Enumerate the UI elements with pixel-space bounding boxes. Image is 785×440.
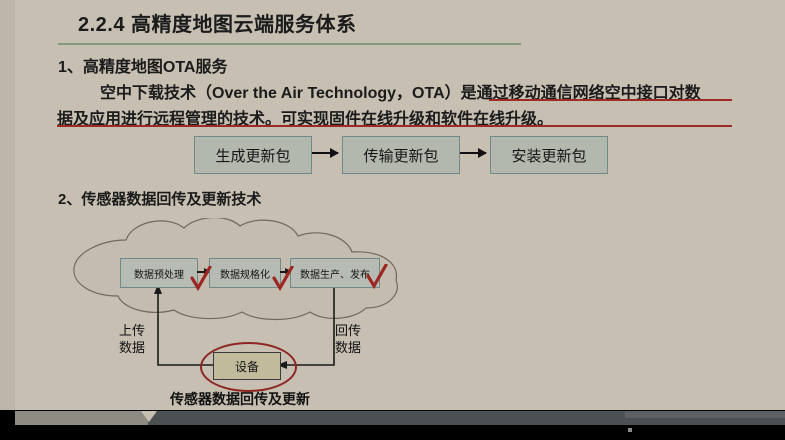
return-label: 回传 数据	[326, 322, 370, 356]
diagram-caption: 传感器数据回传及更新	[170, 389, 310, 409]
progress-handle[interactable]	[141, 411, 157, 422]
check-mark-icon-2	[272, 266, 294, 292]
slide-canvas: 2.2.4 高精度地图云端服务体系 1、高精度地图OTA服务 空中下载技术（Ov…	[0, 0, 785, 440]
red-underline-2	[57, 125, 732, 127]
left-edge-strip	[0, 0, 15, 410]
page-title: 2.2.4 高精度地图云端服务体系	[78, 8, 357, 37]
upload-label-line2: 数据	[110, 339, 154, 356]
title-divider	[58, 43, 521, 45]
check-mark-icon-3	[366, 264, 388, 290]
progress-buffered-segment	[625, 411, 785, 418]
player-indicator-dot	[628, 428, 632, 432]
progress-fill[interactable]	[15, 411, 148, 425]
ota-step-box-1: 生成更新包	[194, 136, 312, 174]
device-box: 设备	[213, 352, 281, 380]
cloud-step-box-2: 数据规格化	[209, 258, 281, 288]
section1-heading: 1、高精度地图OTA服务	[58, 53, 228, 77]
section2-heading: 2、传感器数据回传及更新技术	[58, 188, 261, 209]
upload-label: 上传 数据	[110, 322, 154, 356]
ota-step-box-3: 安装更新包	[490, 136, 608, 174]
ota-step-box-2: 传输更新包	[342, 136, 460, 174]
return-label-line2: 数据	[326, 339, 370, 356]
ota-arrow-2	[460, 152, 486, 154]
check-mark-icon-1	[190, 266, 212, 292]
cloud-step-box-1: 数据预处理	[120, 258, 198, 288]
upload-label-line1: 上传	[110, 322, 154, 339]
return-label-line1: 回传	[326, 322, 370, 339]
ota-arrow-1	[312, 152, 338, 154]
red-underline-1	[489, 99, 732, 101]
